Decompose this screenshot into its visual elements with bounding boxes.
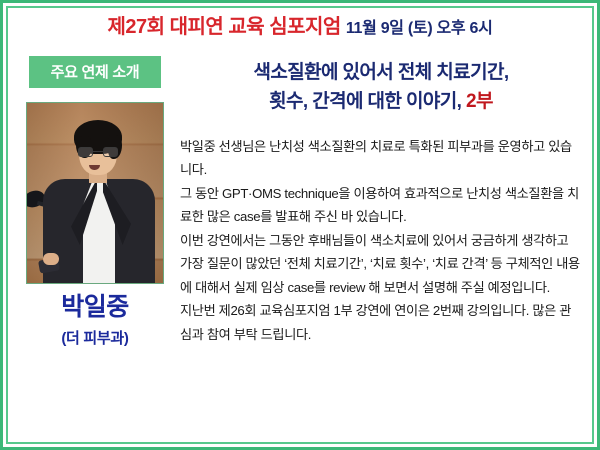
speaker-name: 박일중 (16, 293, 174, 322)
glasses-lens-left (78, 147, 93, 157)
glasses-bridge (93, 151, 103, 152)
talk-title: 색소질환에 있어서 전체 치료기간, 횟수, 간격에 대한 이야기, 2부 (180, 58, 582, 117)
section-badge: 주요 연제 소개 (29, 56, 161, 88)
symposium-title: 제27회 대피연 교육 심포지엄 (108, 16, 341, 38)
poster-frame: 제27회 대피연 교육 심포지엄11월 9일 (토) 오후 6시 주요 연제 소… (0, 0, 600, 450)
speaker-column: 주요 연제 소개 (16, 56, 174, 348)
talk-title-line-2: 횟수, 간격에 대한 이야기, 2부 (180, 87, 582, 116)
content-column: 색소질환에 있어서 전체 치료기간, 횟수, 간격에 대한 이야기, 2부 박일… (180, 58, 582, 346)
poster-inner-frame: 제27회 대피연 교육 심포지엄11월 9일 (토) 오후 6시 주요 연제 소… (6, 6, 594, 444)
speaker-affiliation: (더 피부과) (16, 327, 174, 348)
description-paragraph: 지난번 제26회 교육심포지엄 1부 강연에 연이은 2번째 강의입니다. 많은… (180, 299, 582, 346)
glasses-icon (78, 147, 118, 157)
glasses-lens-right (103, 147, 118, 157)
talk-title-part: 2부 (466, 91, 493, 112)
hand (43, 253, 59, 265)
description-paragraph: 이번 강연에서는 그동안 후배님들이 색소치료에 있어서 궁금하게 생각하고 가… (180, 229, 582, 300)
symposium-date: 11월 9일 (토) 오후 6시 (346, 20, 493, 37)
speaker-photo (26, 102, 164, 284)
description-paragraph: 박일중 선생님은 난치성 색소질환의 치료로 특화된 피부과를 운영하고 있습니… (180, 135, 582, 182)
poster-header: 제27회 대피연 교육 심포지엄11월 9일 (토) 오후 6시 (8, 16, 592, 38)
talk-title-line-1: 색소질환에 있어서 전체 치료기간, (180, 58, 582, 87)
speaker-figure (27, 103, 163, 283)
description-text: 박일중 선생님은 난치성 색소질환의 치료로 특화된 피부과를 운영하고 있습니… (180, 135, 582, 347)
talk-title-line-2-main: 횟수, 간격에 대한 이야기, (269, 91, 461, 112)
description-paragraph: 그 동안 GPT·OMS technique을 이용하여 효과적으로 난치성 색… (180, 182, 582, 229)
